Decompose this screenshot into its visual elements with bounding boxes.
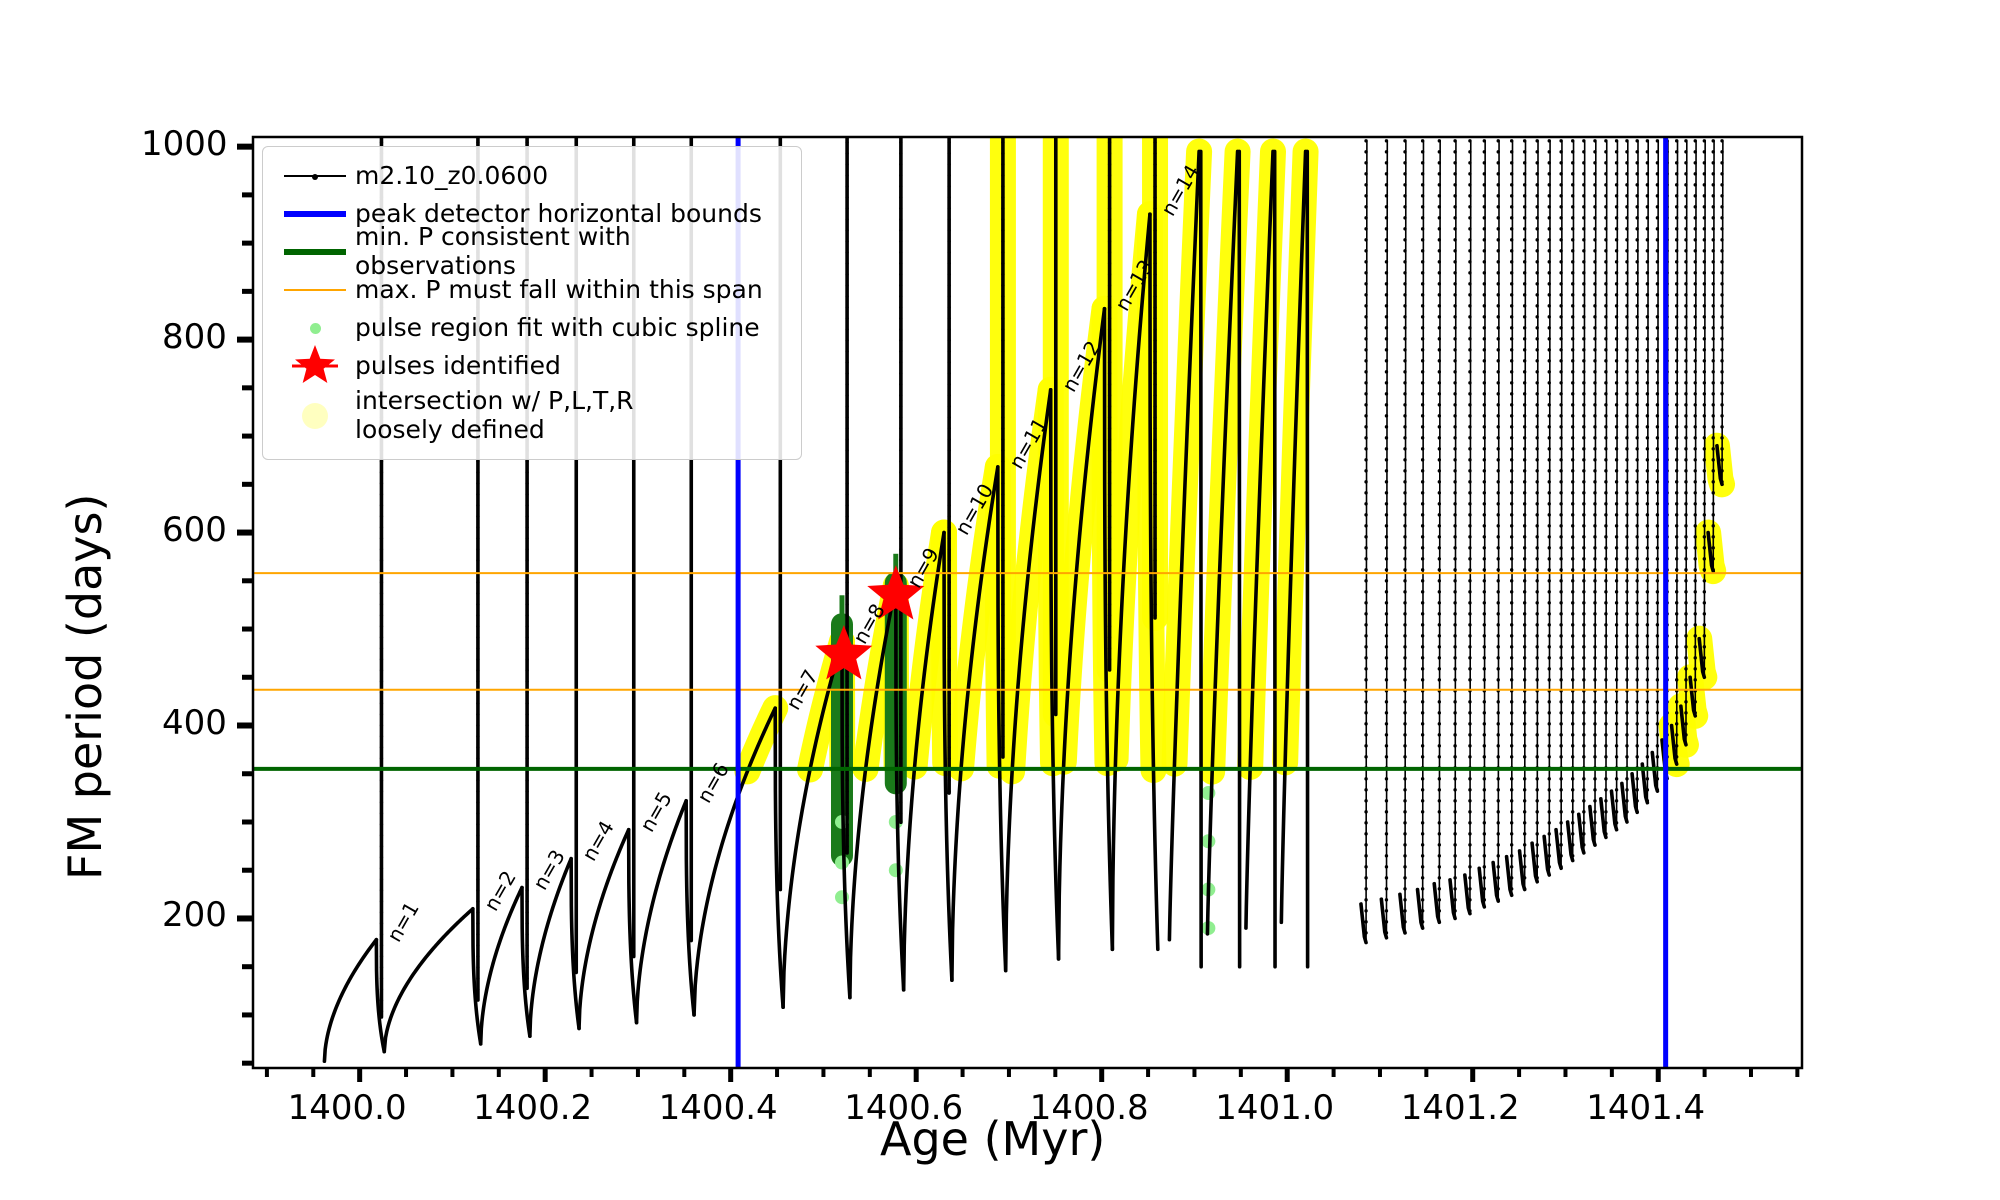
figure-canvas: FM period (days) Age (Myr) 1400.01400.21…: [0, 0, 2000, 1200]
x-tick-label: 1400.4: [659, 1088, 778, 1128]
legend-key-star-icon: [275, 347, 355, 385]
legend-item: pulses identified: [275, 347, 789, 385]
legend-item-label: pulses identified: [355, 352, 561, 381]
x-tick-label: 1401.4: [1586, 1088, 1705, 1128]
legend-item-label: intersection w/ P,L,T,R loosely defined: [355, 387, 634, 445]
x-tick-label: 1401.0: [1215, 1088, 1334, 1128]
x-tick-label: 1400.0: [288, 1088, 407, 1128]
y-tick-label: 1000: [141, 124, 228, 164]
legend-key-thick-line-icon: [275, 195, 355, 233]
legend-item-label: pulse region fit with cubic spline: [355, 314, 760, 343]
x-tick-label: 1400.6: [844, 1088, 963, 1128]
legend-key-large-dot-icon: [275, 397, 355, 435]
y-tick-label: 800: [162, 317, 227, 357]
y-tick-label: 600: [162, 510, 227, 550]
x-tick-label: 1400.2: [473, 1088, 592, 1128]
x-tick-label: 1401.2: [1401, 1088, 1520, 1128]
x-tick-label: 1400.8: [1030, 1088, 1149, 1128]
legend: m2.10_z0.0600peak detector horizontal bo…: [262, 146, 802, 460]
legend-key-line-with-dot-icon: [275, 157, 355, 195]
legend-item: m2.10_z0.0600: [275, 157, 789, 195]
legend-item: min. P consistent with observations: [275, 233, 789, 271]
y-axis-label: FM period (days): [58, 494, 112, 880]
legend-key-thick-line-icon: [275, 233, 355, 271]
legend-key-small-dot-icon: [275, 309, 355, 347]
y-tick-label: 200: [162, 895, 227, 935]
y-tick-label: 400: [162, 703, 227, 743]
legend-item: intersection w/ P,L,T,R loosely defined: [275, 385, 789, 447]
legend-item: max. P must fall within this span: [275, 271, 789, 309]
legend-item-label: m2.10_z0.0600: [355, 162, 548, 191]
legend-key-thin-line-icon: [275, 271, 355, 309]
legend-item-label: max. P must fall within this span: [355, 276, 763, 305]
legend-item: pulse region fit with cubic spline: [275, 309, 789, 347]
legend-item-label: min. P consistent with observations: [355, 223, 789, 281]
